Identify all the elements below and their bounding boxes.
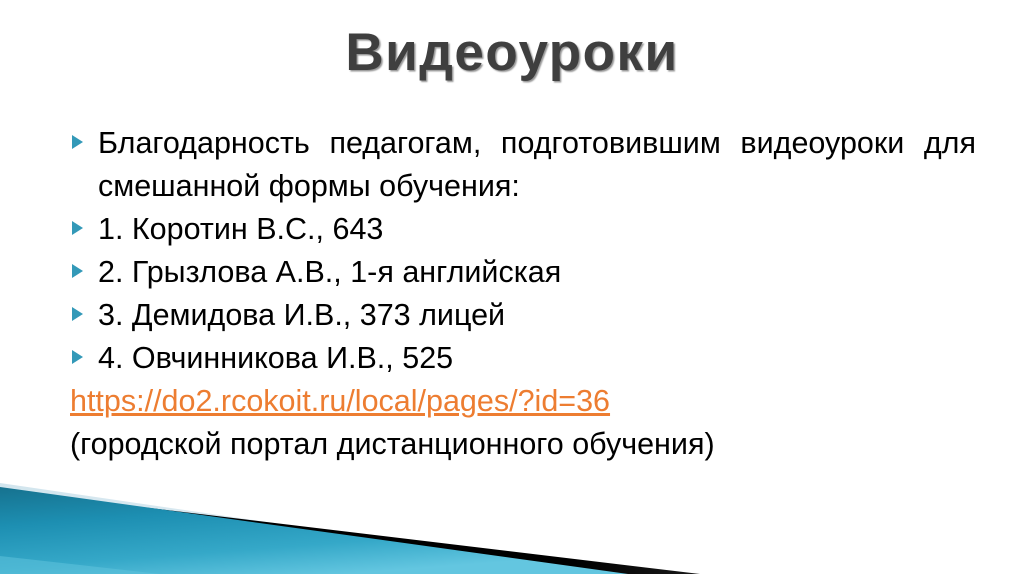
triangle-right-icon bbox=[72, 135, 83, 149]
list-item-label: 1. Коротин В.С., 643 bbox=[98, 208, 976, 251]
portal-link-label[interactable]: https://do2.rcokoit.ru/local/pages/?id=3… bbox=[70, 384, 610, 418]
portal-caption-label: (городской портал дистанционного обучени… bbox=[70, 427, 715, 461]
list-item: 1. Коротин В.С., 643 bbox=[66, 208, 976, 251]
decor-teal-highlight bbox=[0, 556, 160, 574]
triangle-right-icon bbox=[72, 350, 83, 364]
triangle-right-icon bbox=[72, 307, 83, 321]
decor-black-stripe bbox=[0, 490, 700, 574]
triangle-right-icon bbox=[72, 221, 83, 235]
triangle-right-icon bbox=[72, 264, 83, 278]
bottom-left-diagonal-banner bbox=[0, 470, 1024, 574]
list-item-label: Благодарность педагогам, подготовившим в… bbox=[98, 122, 976, 208]
list-item-label: 3. Демидова И.В., 373 лицей bbox=[98, 294, 976, 337]
list-item: 3. Демидова И.В., 373 лицей bbox=[66, 294, 976, 337]
page-title: Видеоуроки bbox=[0, 22, 1024, 83]
list-item: Благодарность педагогам, подготовившим в… bbox=[66, 122, 976, 208]
list-item-label: 2. Грызлова А.В., 1-я английская bbox=[98, 251, 976, 294]
list-item: 2. Грызлова А.В., 1-я английская bbox=[66, 251, 976, 294]
decor-teal-wedge bbox=[0, 487, 628, 574]
content-body: Благодарность педагогам, подготовившим в… bbox=[66, 122, 976, 466]
slide-canvas: Видеоуроки Благодарность педагогам, подг… bbox=[0, 0, 1024, 574]
list-item-label: 4. Овчинникова И.В., 525 bbox=[98, 337, 976, 380]
portal-link[interactable]: https://do2.rcokoit.ru/local/pages/?id=3… bbox=[66, 380, 976, 423]
list-item: 4. Овчинникова И.В., 525 bbox=[66, 337, 976, 380]
decor-pale-stripe bbox=[0, 483, 622, 574]
portal-caption: (городской портал дистанционного обучени… bbox=[66, 423, 976, 466]
